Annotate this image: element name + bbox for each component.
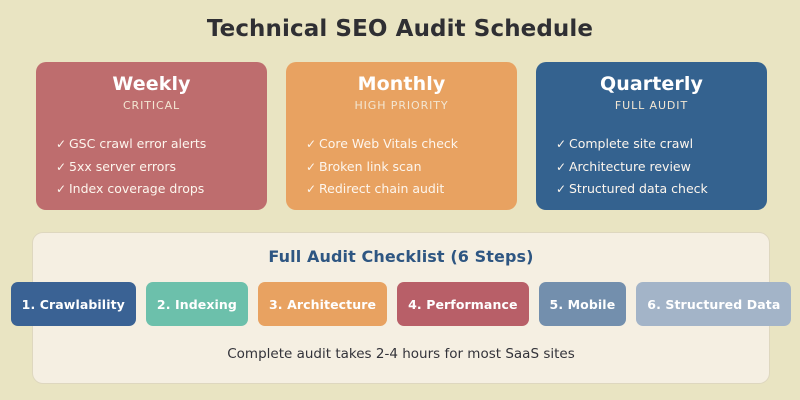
cadence-cards-row: Weekly CRITICAL ✓GSC crawl error alerts …	[36, 62, 767, 210]
checklist-title: Full Audit Checklist (6 Steps)	[268, 247, 533, 266]
cadence-card-subtitle: FULL AUDIT	[552, 99, 751, 113]
cadence-card-quarterly: Quarterly FULL AUDIT ✓Complete site craw…	[536, 62, 767, 210]
list-item: ✓Redirect chain audit	[306, 178, 501, 201]
list-item: ✓5xx server errors	[56, 155, 251, 178]
check-icon: ✓	[56, 158, 69, 177]
check-icon: ✓	[56, 180, 69, 199]
list-item-label: Index coverage drops	[69, 181, 204, 196]
list-item-label: Redirect chain audit	[319, 181, 444, 196]
list-item: ✓Complete site crawl	[556, 132, 751, 155]
list-item: ✓Core Web Vitals check	[306, 132, 501, 155]
cadence-card-subtitle: CRITICAL	[52, 99, 251, 113]
cadence-card-weekly: Weekly CRITICAL ✓GSC crawl error alerts …	[36, 62, 267, 210]
list-item: ✓Index coverage drops	[56, 178, 251, 201]
check-icon: ✓	[306, 180, 319, 199]
step-chip-performance[interactable]: 4. Performance	[397, 282, 528, 326]
list-item-label: Architecture review	[569, 159, 691, 174]
page-title: Technical SEO Audit Schedule	[0, 16, 800, 42]
step-chip-mobile[interactable]: 5. Mobile	[539, 282, 627, 326]
cadence-card-subtitle: HIGH PRIORITY	[302, 99, 501, 113]
check-icon: ✓	[556, 158, 569, 177]
full-audit-checklist-panel: Full Audit Checklist (6 Steps) 1. Crawla…	[32, 232, 770, 384]
check-icon: ✓	[556, 135, 569, 154]
list-item-label: Broken link scan	[319, 159, 422, 174]
checklist-steps-row: 1. Crawlability 2. Indexing 3. Architect…	[33, 282, 769, 326]
list-item: ✓GSC crawl error alerts	[56, 132, 251, 155]
list-item-label: GSC crawl error alerts	[69, 136, 206, 151]
step-chip-architecture[interactable]: 3. Architecture	[258, 282, 387, 326]
check-icon: ✓	[306, 135, 319, 154]
list-item-label: Structured data check	[569, 181, 708, 196]
cadence-card-monthly: Monthly HIGH PRIORITY ✓Core Web Vitals c…	[286, 62, 517, 210]
cadence-card-item-list: ✓Complete site crawl ✓Architecture revie…	[552, 132, 751, 200]
check-icon: ✓	[556, 180, 569, 199]
list-item: ✓Broken link scan	[306, 155, 501, 178]
cadence-card-title: Weekly	[52, 73, 251, 96]
check-icon: ✓	[56, 135, 69, 154]
list-item-label: Core Web Vitals check	[319, 136, 458, 151]
cadence-card-item-list: ✓Core Web Vitals check ✓Broken link scan…	[302, 132, 501, 200]
checklist-footnote: Complete audit takes 2-4 hours for most …	[227, 346, 574, 362]
cadence-card-title: Quarterly	[552, 73, 751, 96]
step-chip-indexing[interactable]: 2. Indexing	[146, 282, 248, 326]
check-icon: ✓	[306, 158, 319, 177]
list-item: ✓Architecture review	[556, 155, 751, 178]
list-item-label: 5xx server errors	[69, 159, 176, 174]
list-item: ✓Structured data check	[556, 178, 751, 201]
step-chip-crawlability[interactable]: 1. Crawlability	[11, 282, 136, 326]
cadence-card-item-list: ✓GSC crawl error alerts ✓5xx server erro…	[52, 132, 251, 200]
step-chip-structured-data[interactable]: 6. Structured Data	[636, 282, 791, 326]
cadence-card-title: Monthly	[302, 73, 501, 96]
list-item-label: Complete site crawl	[569, 136, 693, 151]
